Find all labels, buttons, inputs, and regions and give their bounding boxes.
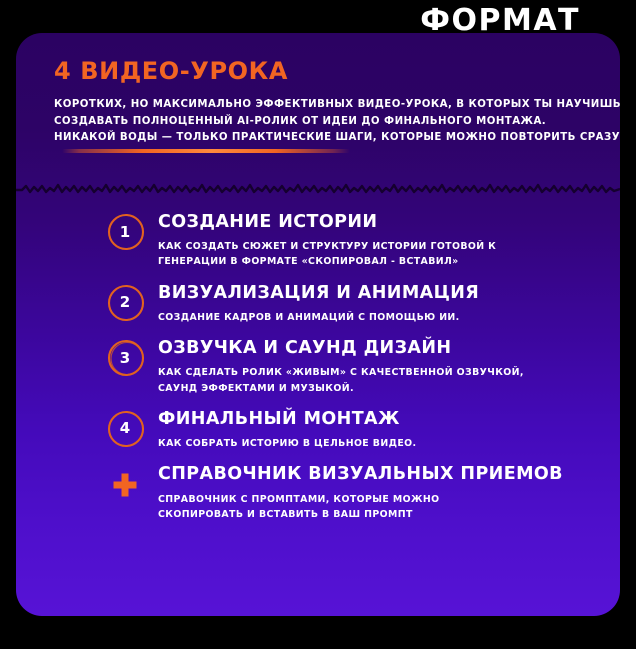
lesson-desc-line: СОЗДАНИЕ КАДРОВ И АНИМАЦИЙ С ПОМОЩЬЮ ИИ.	[158, 310, 479, 325]
card-header: 4 ВИДЕО-УРОКА КОРОТКИХ, НО МАКСИМАЛЬНО Э…	[16, 33, 620, 153]
list-item[interactable]: 3 ОЗВУЧКА И САУНД ДИЗАЙН КАК СДЕЛАТЬ РОЛ…	[104, 337, 620, 396]
lesson-desc-line: СПРАВОЧНИК С ПРОМПТАМИ, КОТОРЫЕ МОЖНО	[158, 492, 563, 507]
lesson-body: ФИНАЛЬНЫЙ МОНТАЖ КАК СОБРАТЬ ИСТОРИЮ В Ц…	[148, 408, 416, 451]
accent-underline	[62, 149, 350, 153]
lesson-body: СПРАВОЧНИК ВИЗУАЛЬНЫХ ПРИЕМОВ СПРАВОЧНИК…	[148, 463, 563, 522]
plus-icon	[112, 472, 138, 498]
page-title: 4 ВИДЕО-УРОКА	[54, 59, 590, 84]
lesson-description: СПРАВОЧНИК С ПРОМПТАМИ, КОТОРЫЕ МОЖНО СК…	[158, 492, 563, 522]
lesson-description: КАК СДЕЛАТЬ РОЛИК «ЖИВЫМ» С КАЧЕСТВЕННОЙ…	[158, 365, 524, 395]
lesson-marker: 1	[104, 212, 148, 252]
list-item[interactable]: 1 СОЗДАНИЕ ИСТОРИИ КАК СОЗДАТЬ СЮЖЕТ И С…	[104, 211, 620, 270]
lesson-desc-line: КАК СДЕЛАТЬ РОЛИК «ЖИВЫМ» С КАЧЕСТВЕННОЙ…	[158, 365, 524, 380]
lesson-body: ВИЗУАЛИЗАЦИЯ И АНИМАЦИЯ СОЗДАНИЕ КАДРОВ …	[148, 282, 479, 325]
lede-line-2: СОЗДАВАТЬ ПОЛНОЦЕННЫЙ AI-РОЛИК ОТ ИДЕИ Д…	[54, 114, 590, 131]
lesson-marker	[104, 464, 148, 504]
wavy-divider	[16, 181, 620, 197]
lesson-description: КАК СОБРАТЬ ИСТОРИЮ В ЦЕЛЬНОЕ ВИДЕО.	[158, 436, 416, 451]
lede-paragraph: КОРОТКИХ, НО МАКСИМАЛЬНО ЭФФЕКТИВНЫХ ВИД…	[54, 97, 590, 147]
content-card: 4 ВИДЕО-УРОКА КОРОТКИХ, НО МАКСИМАЛЬНО Э…	[16, 33, 620, 616]
list-item[interactable]: СПРАВОЧНИК ВИЗУАЛЬНЫХ ПРИЕМОВ СПРАВОЧНИК…	[104, 463, 620, 522]
lesson-title: ВИЗУАЛИЗАЦИЯ И АНИМАЦИЯ	[158, 284, 479, 303]
lesson-marker: 2	[104, 283, 148, 323]
lesson-desc-line: КАК СОЗДАТЬ СЮЖЕТ И СТРУКТУРУ ИСТОРИИ ГО…	[158, 239, 496, 254]
lesson-desc-line: ГЕНЕРАЦИИ В ФОРМАТЕ «СКОПИРОВАЛ - ВСТАВИ…	[158, 254, 496, 269]
lesson-title: ОЗВУЧКА И САУНД ДИЗАЙН	[158, 339, 524, 358]
lesson-description: СОЗДАНИЕ КАДРОВ И АНИМАЦИЙ С ПОМОЩЬЮ ИИ.	[158, 310, 479, 325]
brand-logo: ФОРМАТ	[420, 6, 580, 36]
lesson-list: 1 СОЗДАНИЕ ИСТОРИИ КАК СОЗДАТЬ СЮЖЕТ И С…	[16, 211, 620, 534]
lesson-desc-line: СКОПИРОВАТЬ И ВСТАВИТЬ В ВАШ ПРОМПТ	[158, 507, 563, 522]
lede-line-3: НИКАКОЙ ВОДЫ — ТОЛЬКО ПРАКТИЧЕСКИЕ ШАГИ,…	[54, 130, 590, 147]
lesson-title: СОЗДАНИЕ ИСТОРИИ	[158, 213, 496, 232]
lesson-number: 4	[120, 421, 130, 436]
lesson-number: 3	[120, 351, 130, 366]
lesson-desc-line: КАК СОБРАТЬ ИСТОРИЮ В ЦЕЛЬНОЕ ВИДЕО.	[158, 436, 416, 451]
lesson-desc-line: САУНД ЭФФЕКТАМИ И МУЗЫКОЙ.	[158, 381, 524, 396]
lede-line-1: КОРОТКИХ, НО МАКСИМАЛЬНО ЭФФЕКТИВНЫХ ВИД…	[54, 97, 590, 114]
lesson-number: 2	[120, 295, 130, 310]
lesson-description: КАК СОЗДАТЬ СЮЖЕТ И СТРУКТУРУ ИСТОРИИ ГО…	[158, 239, 496, 269]
lesson-body: ОЗВУЧКА И САУНД ДИЗАЙН КАК СДЕЛАТЬ РОЛИК…	[148, 337, 524, 396]
lesson-title: ФИНАЛЬНЫЙ МОНТАЖ	[158, 410, 416, 429]
lesson-marker: 3	[104, 338, 148, 378]
lesson-body: СОЗДАНИЕ ИСТОРИИ КАК СОЗДАТЬ СЮЖЕТ И СТР…	[148, 211, 496, 270]
lesson-title: СПРАВОЧНИК ВИЗУАЛЬНЫХ ПРИЕМОВ	[158, 465, 563, 484]
lesson-number: 1	[120, 225, 130, 240]
lesson-marker: 4	[104, 409, 148, 449]
list-item[interactable]: 4 ФИНАЛЬНЫЙ МОНТАЖ КАК СОБРАТЬ ИСТОРИЮ В…	[104, 408, 620, 451]
list-item[interactable]: 2 ВИЗУАЛИЗАЦИЯ И АНИМАЦИЯ СОЗДАНИЕ КАДРО…	[104, 282, 620, 325]
promo-card-screen: ФОРМАТ 4 ВИДЕО-УРОКА КОРОТКИХ, НО МАКСИМ…	[0, 0, 636, 649]
